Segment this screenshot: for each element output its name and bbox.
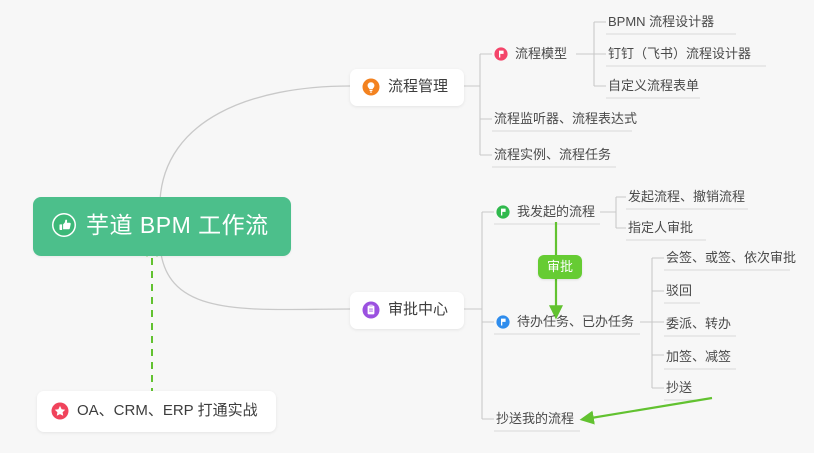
node-label: 指定人审批 xyxy=(628,220,693,236)
flag-icon xyxy=(496,315,510,329)
node-dingtalk-feishu-designer[interactable]: 钉钉（飞书）流程设计器 xyxy=(606,43,757,67)
node-custom-process-form[interactable]: 自定义流程表单 xyxy=(606,75,705,99)
flag-icon xyxy=(494,47,508,61)
node-process-model[interactable]: 流程模型 xyxy=(492,43,573,67)
node-label: 委派、转办 xyxy=(666,316,731,332)
edge-process-model-trunk xyxy=(576,22,606,86)
node-label: 流程模型 xyxy=(515,46,567,62)
edge-process-management-trunk xyxy=(462,54,492,155)
clipboard-icon xyxy=(362,301,380,319)
flag-icon xyxy=(496,205,510,219)
lightbulb-icon xyxy=(362,78,380,96)
floating-node-integration-practice[interactable]: OA、CRM、ERP 打通实战 xyxy=(37,391,276,432)
node-label: 会签、或签、依次审批 xyxy=(666,250,796,266)
edge-root-to-process-management xyxy=(160,86,350,200)
node-reject[interactable]: 驳回 xyxy=(664,280,698,304)
node-bpmn-designer[interactable]: BPMN 流程设计器 xyxy=(606,11,720,35)
node-label: 抄送 xyxy=(666,380,692,396)
floating-node-label: OA、CRM、ERP 打通实战 xyxy=(77,402,258,421)
edge-approval-center-trunk xyxy=(462,212,494,419)
node-listener-expression[interactable]: 流程监听器、流程表达式 xyxy=(492,108,643,132)
node-cc[interactable]: 抄送 xyxy=(664,377,698,401)
node-label: 驳回 xyxy=(666,283,692,299)
node-label: 流程实例、流程任务 xyxy=(494,147,611,163)
branch-label: 审批中心 xyxy=(388,301,448,320)
node-cc-to-me[interactable]: 抄送我的流程 xyxy=(494,408,580,432)
node-countersign[interactable]: 会签、或签、依次审批 xyxy=(664,247,802,271)
node-label: 钉钉（飞书）流程设计器 xyxy=(608,46,751,62)
node-label: 待办任务、已办任务 xyxy=(517,314,634,330)
node-assignee-approval[interactable]: 指定人审批 xyxy=(626,217,699,241)
root-node[interactable]: 芋道 BPM 工作流 xyxy=(33,197,291,256)
mindmap-canvas: 芋道 BPM 工作流 流程管理 流程模型 BPMN 流程设计器 钉钉（飞书）流程… xyxy=(0,0,814,453)
node-label: 抄送我的流程 xyxy=(496,411,574,427)
branch-process-management[interactable]: 流程管理 xyxy=(350,69,464,106)
root-label: 芋道 BPM 工作流 xyxy=(86,211,269,240)
node-start-cancel[interactable]: 发起流程、撤销流程 xyxy=(626,186,751,210)
edge-todo-tasks-trunk xyxy=(640,258,664,388)
node-label: 发起流程、撤销流程 xyxy=(628,189,745,205)
edge-my-initiated-trunk xyxy=(600,197,626,228)
node-label: 我发起的流程 xyxy=(517,204,595,220)
annotation-approve-badge: 审批 xyxy=(538,255,582,279)
node-add-remove-sign[interactable]: 加签、减签 xyxy=(664,346,737,370)
node-label: BPMN 流程设计器 xyxy=(608,14,714,30)
node-label: 加签、减签 xyxy=(666,349,731,365)
node-label: 流程监听器、流程表达式 xyxy=(494,111,637,127)
thumbs-up-icon xyxy=(51,212,77,238)
node-my-initiated[interactable]: 我发起的流程 xyxy=(494,201,601,225)
branch-approval-center[interactable]: 审批中心 xyxy=(350,292,464,329)
node-delegate-transfer[interactable]: 委派、转办 xyxy=(664,313,737,337)
star-icon xyxy=(51,402,69,420)
annotation-label: 审批 xyxy=(547,259,573,274)
node-instance-task[interactable]: 流程实例、流程任务 xyxy=(492,144,617,168)
branch-label: 流程管理 xyxy=(388,78,448,97)
node-todo-done-tasks[interactable]: 待办任务、已办任务 xyxy=(494,311,640,335)
node-label: 自定义流程表单 xyxy=(608,78,699,94)
